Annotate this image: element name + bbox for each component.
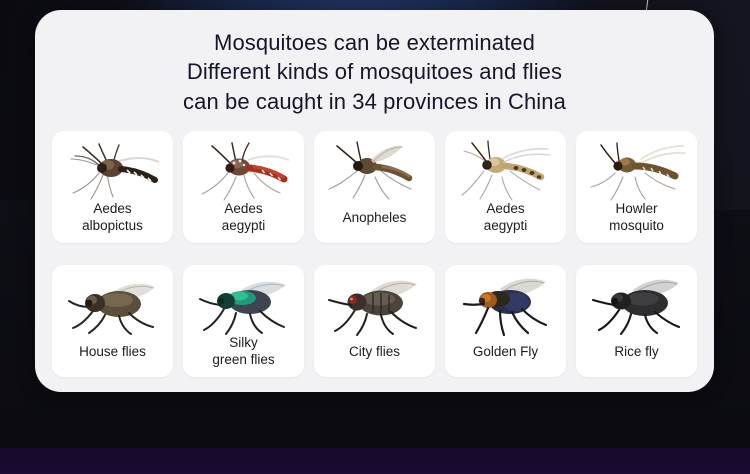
label-line-2: aegypti bbox=[484, 217, 528, 234]
title-line-1: Mosquitoes can be exterminated bbox=[55, 28, 694, 57]
info-panel: Mosquitoes can be exterminated Different… bbox=[35, 10, 714, 392]
mosquito-aedes-aegypti-tan-icon bbox=[445, 135, 566, 205]
fly-house-icon bbox=[52, 269, 173, 339]
species-card-aedes-aegypti-1[interactable]: Aedes aegypti bbox=[183, 131, 304, 243]
label-line-1: Rice fly bbox=[614, 344, 658, 359]
label-line-1: Howler bbox=[615, 201, 657, 216]
fly-rice-icon bbox=[576, 269, 697, 339]
mosquito-aedes-aegypti-red-icon bbox=[183, 135, 304, 205]
label-line-1: House flies bbox=[79, 344, 146, 359]
species-card-city-flies[interactable]: City flies bbox=[314, 265, 435, 377]
label-line-1: Silky bbox=[229, 335, 258, 350]
label-line-1: Aedes bbox=[93, 201, 131, 216]
label-line-2: mosquito bbox=[609, 217, 664, 234]
species-card-aedes-aegypti-2[interactable]: Aedes aegypti bbox=[445, 131, 566, 243]
species-card-label: Silky green flies bbox=[208, 334, 278, 369]
species-card-house-flies[interactable]: House flies bbox=[52, 265, 173, 377]
label-line-2: albopictus bbox=[82, 217, 143, 234]
mosquito-howler-icon bbox=[576, 135, 697, 205]
species-card-label: Aedes aegypti bbox=[218, 200, 270, 235]
fly-silky-green-icon bbox=[183, 269, 304, 339]
species-card-label: City flies bbox=[345, 343, 404, 360]
mosquito-aedes-albopictus-icon bbox=[52, 135, 173, 205]
species-card-label: Rice fly bbox=[610, 343, 662, 360]
backdrop-bottom-band bbox=[0, 448, 750, 474]
fly-city-icon bbox=[314, 269, 435, 339]
mosquito-anopheles-icon bbox=[314, 135, 435, 205]
species-card-label: Howler mosquito bbox=[605, 200, 668, 235]
label-line-1: Aedes bbox=[486, 201, 524, 216]
species-grid: Aedes albopictus bbox=[35, 131, 714, 377]
species-row-mosquitoes: Aedes albopictus bbox=[51, 131, 698, 243]
species-card-label: Golden Fly bbox=[469, 343, 542, 360]
label-line-1: Aedes bbox=[224, 201, 262, 216]
page-title: Mosquitoes can be exterminated Different… bbox=[35, 10, 714, 116]
title-line-3: can be caught in 34 provinces in China bbox=[55, 87, 694, 116]
screenshot-root: Mosquitoes can be exterminated Different… bbox=[0, 0, 750, 474]
title-line-2: Different kinds of mosquitoes and flies bbox=[55, 57, 694, 86]
species-card-label: House flies bbox=[75, 343, 150, 360]
label-line-1: City flies bbox=[349, 344, 400, 359]
species-card-label: Anopheles bbox=[339, 209, 411, 226]
species-card-golden-fly[interactable]: Golden Fly bbox=[445, 265, 566, 377]
fly-golden-icon bbox=[445, 269, 566, 339]
species-card-aedes-albopictus[interactable]: Aedes albopictus bbox=[52, 131, 173, 243]
species-card-anopheles[interactable]: Anopheles bbox=[314, 131, 435, 243]
label-line-1: Golden Fly bbox=[473, 344, 538, 359]
species-card-howler-mosquito[interactable]: Howler mosquito bbox=[576, 131, 697, 243]
species-card-silky-green-flies[interactable]: Silky green flies bbox=[183, 265, 304, 377]
label-line-1: Anopheles bbox=[343, 210, 407, 225]
label-line-2: green flies bbox=[212, 351, 274, 368]
species-row-flies: House flies bbox=[51, 265, 698, 377]
label-line-2: aegypti bbox=[222, 217, 266, 234]
species-card-rice-fly[interactable]: Rice fly bbox=[576, 265, 697, 377]
species-card-label: Aedes aegypti bbox=[480, 200, 532, 235]
species-card-label: Aedes albopictus bbox=[78, 200, 147, 235]
